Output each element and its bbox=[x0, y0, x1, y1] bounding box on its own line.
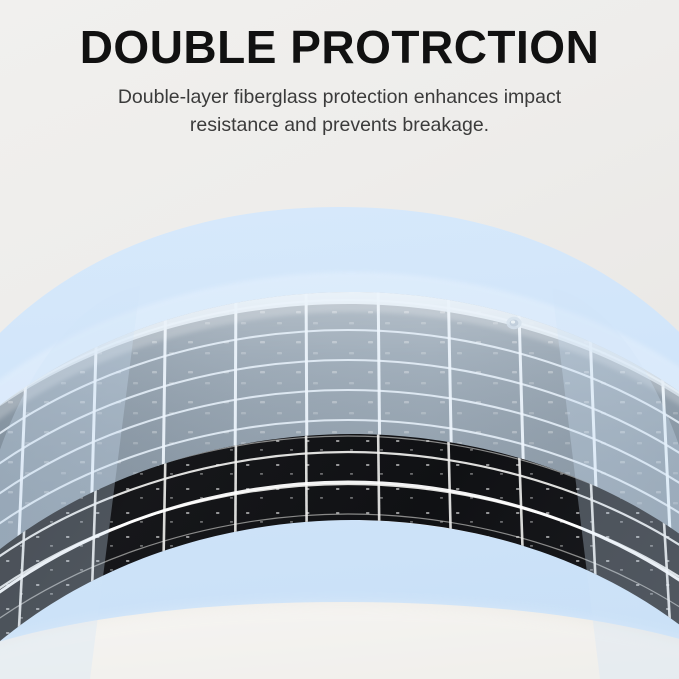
page-subtitle: Double-layer fiberglass protection enhan… bbox=[80, 72, 600, 139]
header: DOUBLE PROTRCTION Double-layer fiberglas… bbox=[0, 0, 679, 139]
page-title: DOUBLE PROTRCTION bbox=[0, 0, 679, 72]
product-feature-card: DOUBLE PROTRCTION Double-layer fiberglas… bbox=[0, 0, 679, 679]
